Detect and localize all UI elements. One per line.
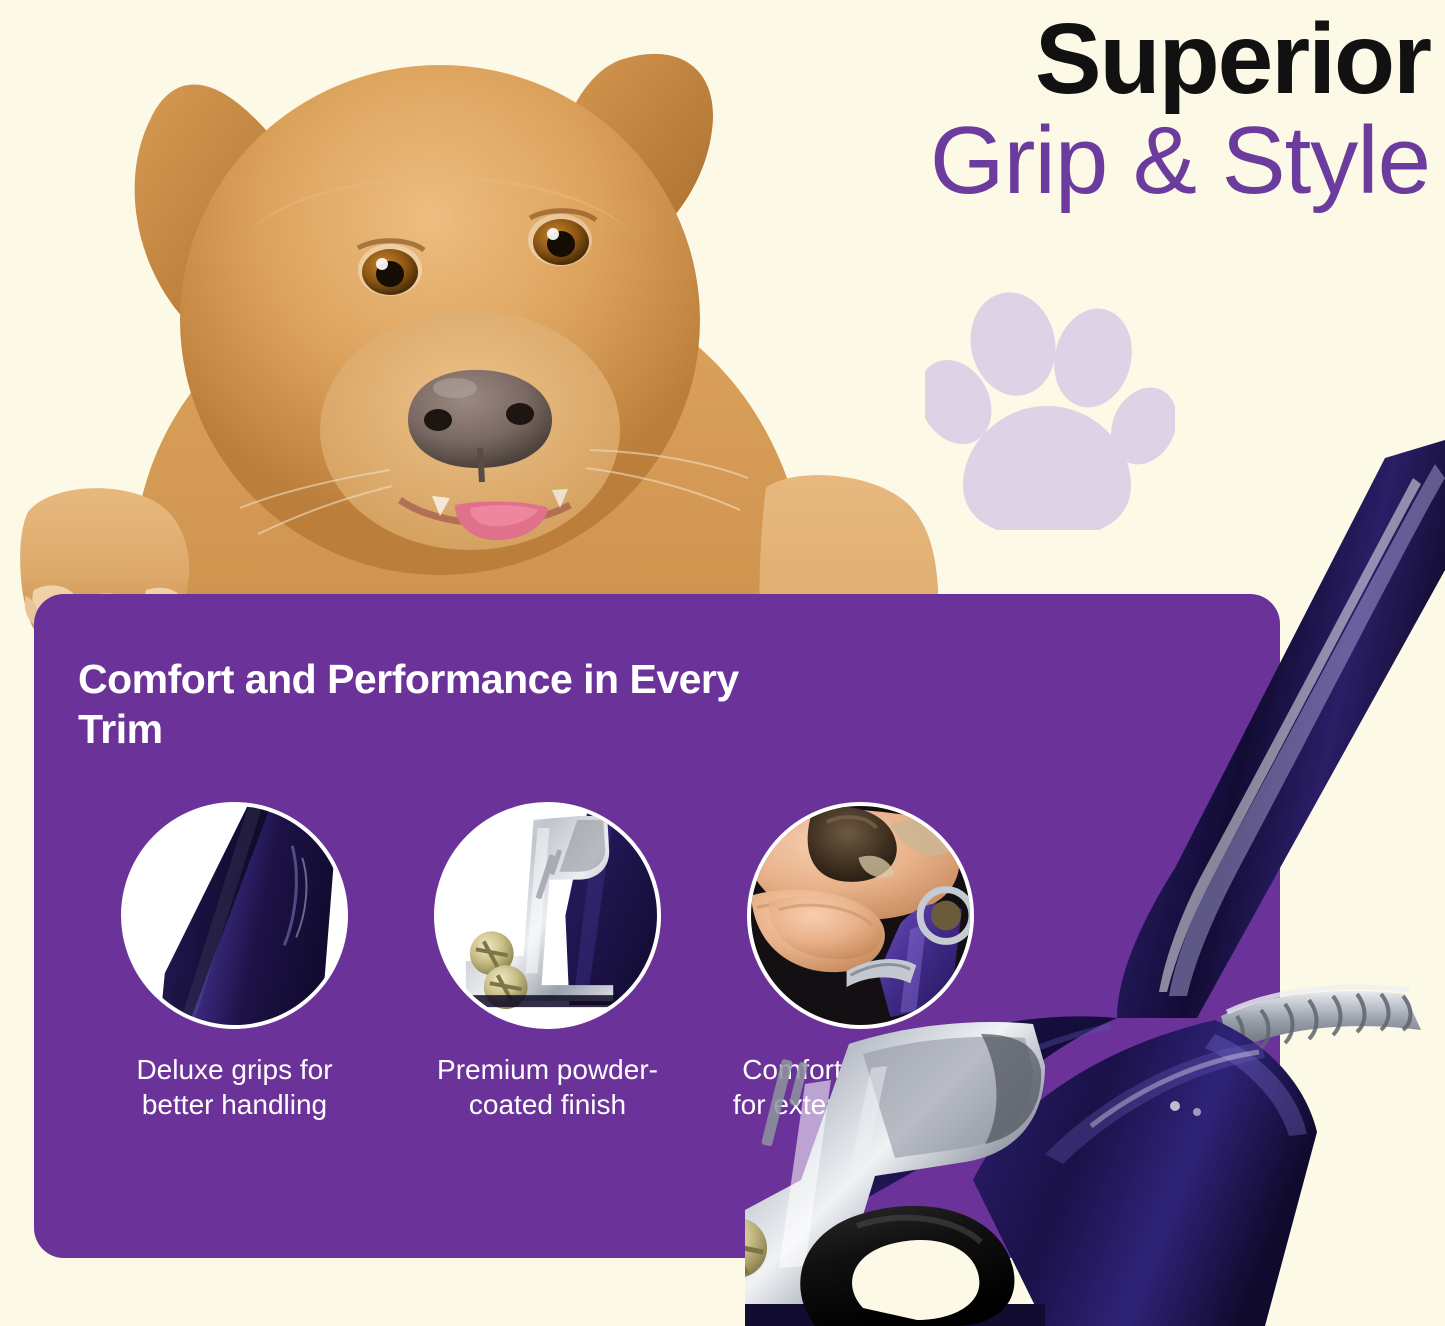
paw-print-icon: [925, 280, 1175, 530]
feature-card: Comfort and Performance in Every Trim: [34, 594, 1280, 1258]
feature-caption: Deluxe grips for better handling: [100, 1053, 370, 1122]
feature-item-deluxe-grips: Deluxe grips for better handling: [78, 802, 391, 1122]
hand-trimming-dog-nail-thumbnail: [747, 802, 974, 1029]
promo-banner: Superior Grip & Style Comfort and Perfor…: [0, 0, 1445, 1326]
clipper-blade-head-closeup-thumbnail: [434, 802, 661, 1029]
card-title: Comfort and Performance in Every Trim: [78, 654, 778, 754]
headline-block: Superior Grip & Style: [790, 10, 1430, 210]
clipper-handle-closeup-thumbnail: [121, 802, 348, 1029]
feature-item-powder-coated-finish: Premium powder-coated finish: [391, 802, 704, 1122]
feature-caption: Comfortable to use for extended periods: [726, 1053, 996, 1122]
headline-line-1: Superior: [790, 10, 1430, 108]
headline-line-2: Grip & Style: [790, 112, 1430, 210]
feature-item-extended-use-comfort: Comfortable to use for extended periods: [704, 802, 1017, 1122]
feature-list: Deluxe grips for better handling: [78, 802, 1018, 1122]
feature-caption: Premium powder-coated finish: [413, 1053, 683, 1122]
